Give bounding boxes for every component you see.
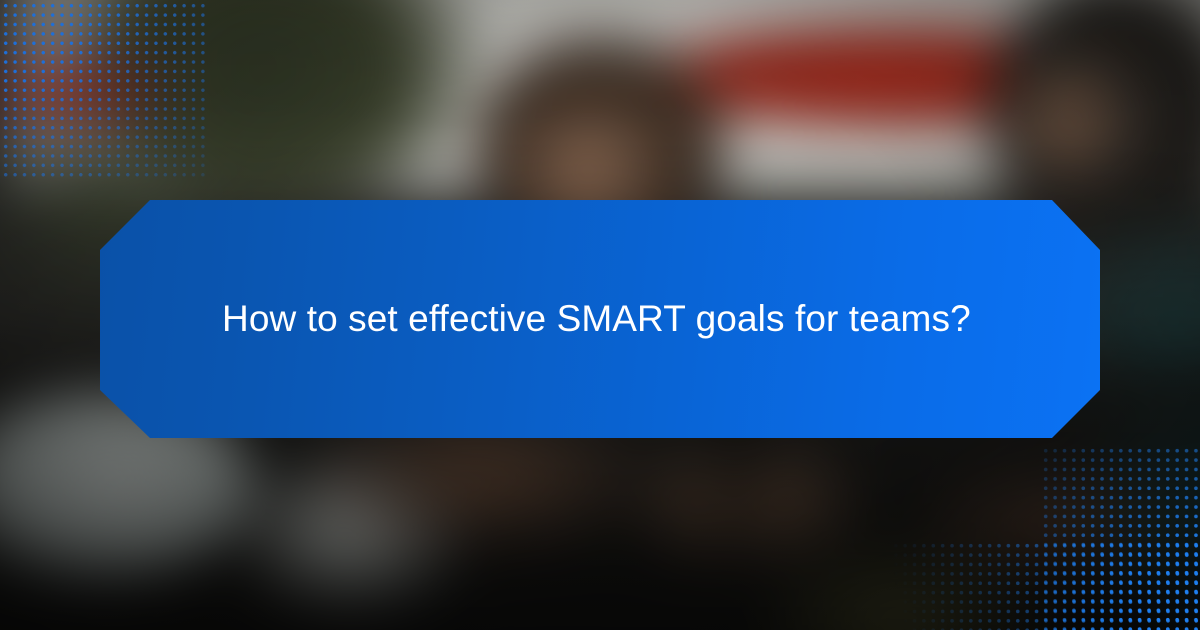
photo-blob-right-face: [996, 45, 1141, 195]
article-header-card: How to set effective SMART goals for tea…: [0, 0, 1200, 630]
page-title: How to set effective SMART goals for tea…: [100, 296, 1031, 342]
title-banner: How to set effective SMART goals for tea…: [100, 200, 1100, 438]
